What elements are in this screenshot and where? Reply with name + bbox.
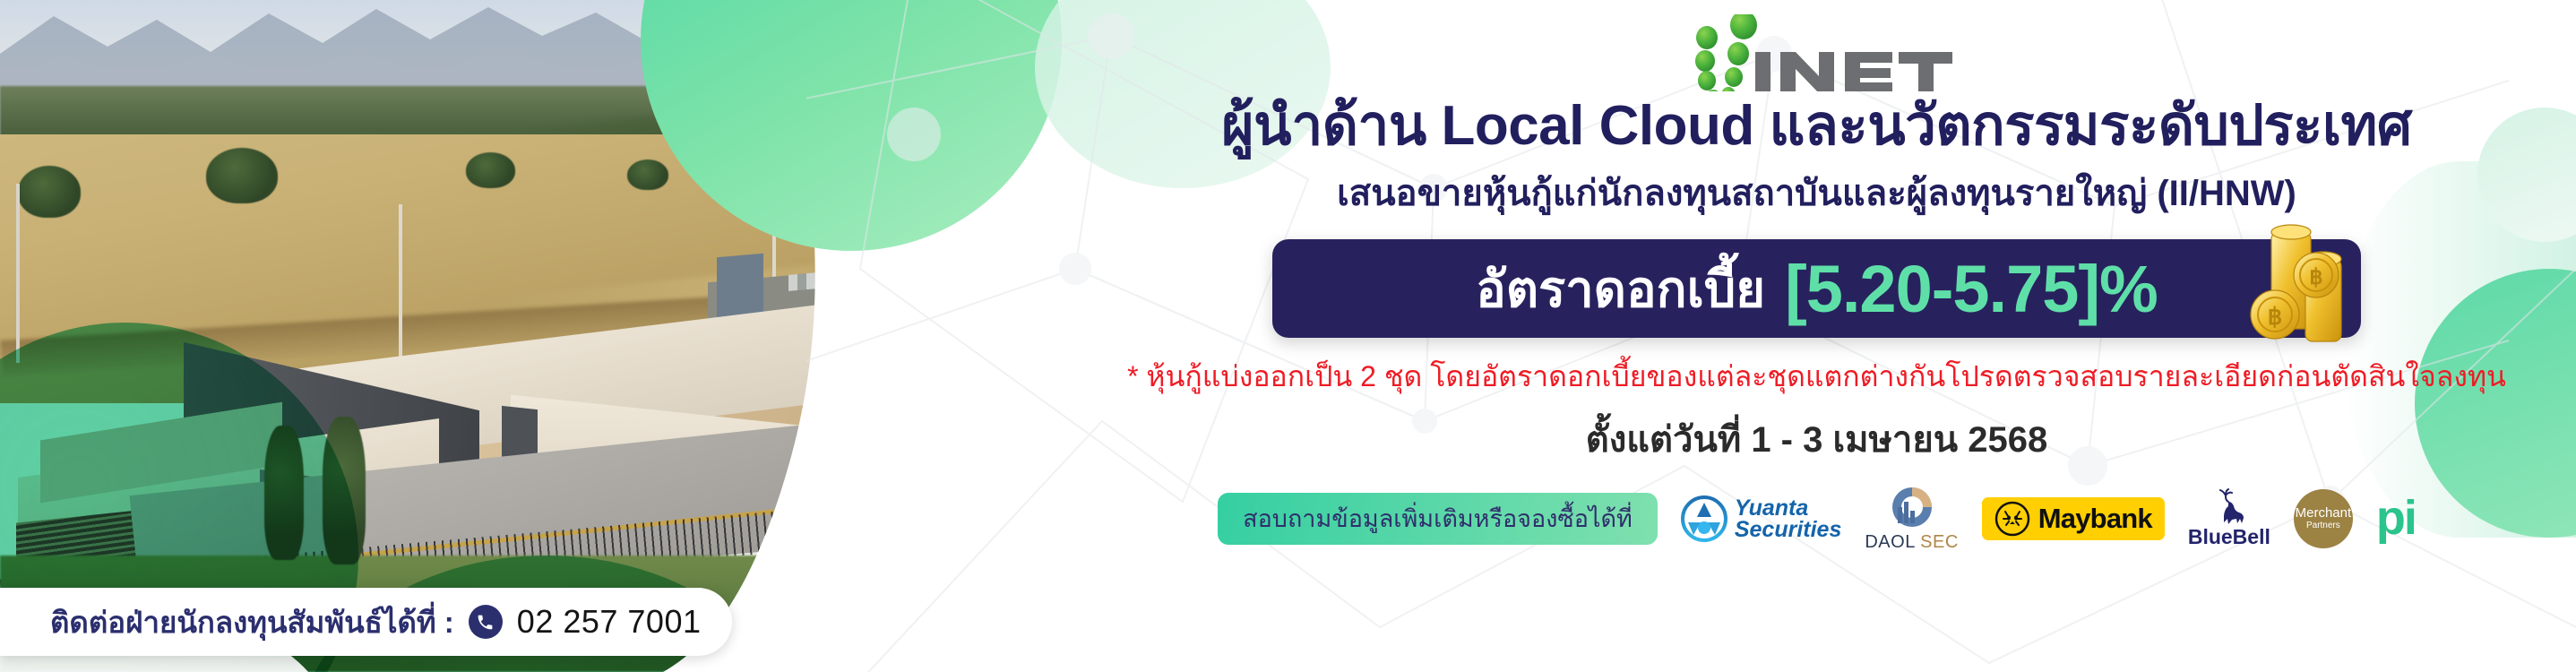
gold-coins-icon: ฿ ฿ — [2219, 216, 2354, 359]
photo-tree — [206, 148, 278, 203]
photo-rooftop-equipment — [788, 255, 1012, 291]
photo-tree — [627, 159, 668, 190]
contact-label: ติดต่อฝ่ายนักลงทุนสัมพันธ์ได้ที่ : — [50, 599, 454, 646]
photo-building-block — [717, 254, 763, 321]
daol-icon — [1886, 484, 1938, 530]
disclaimer-text: * หุ้นกู้แบ่งออกเป็น 2 ชุด โดยอัตราดอกเบ… — [1127, 354, 2506, 400]
inet-logo — [1669, 14, 1965, 91]
contact-phone-number[interactable]: 02 257 7001 — [517, 603, 702, 641]
partner-logo-yuanta-securities[interactable]: Yuanta Securities — [1681, 495, 1842, 542]
daol-sec-text: SEC — [1920, 532, 1959, 552]
inet-logo-mark — [1669, 14, 1965, 91]
merchant-line1: Merchant — [2296, 506, 2352, 520]
interest-rate-bar: อัตราดอกเบี้ย [5.20-5.75]% — [1272, 239, 2361, 338]
daol-text: DAOL — [1865, 532, 1915, 552]
bluebell-label: BlueBell — [2188, 525, 2270, 549]
partner-logo-daol-sec[interactable]: DAOL SEC — [1865, 484, 1958, 553]
offer-period-text: ตั้งแต่วันที่ 1 - 3 เมษายน 2568 — [1586, 410, 2047, 468]
maybank-label: Maybank — [2038, 503, 2152, 535]
photo-tree — [466, 152, 515, 188]
page-title: ผู้นำด้าน Local Cloud และนวัตกรรมระดับปร… — [1221, 95, 2412, 157]
interest-rate-value: [5.20-5.75]% — [1785, 251, 2158, 327]
yuanta-icon — [1681, 495, 1727, 542]
partner-logo-merchant-partners[interactable]: Merchant Partners — [2294, 489, 2353, 548]
banner-content: ผู้นำด้าน Local Cloud และนวัตกรรมระดับปร… — [1057, 0, 2576, 672]
photo-utility-pole — [399, 204, 402, 366]
pi-label: pi — [2376, 499, 2416, 538]
interest-rate-row: อัตราดอกเบี้ย [5.20-5.75]% — [1253, 239, 2382, 338]
maybank-tiger-icon — [1994, 501, 2030, 537]
merchant-line2: Partners — [2306, 520, 2340, 531]
partner-logo-bluebell[interactable]: BlueBell — [2188, 488, 2270, 549]
page-subtitle: เสนอขายหุ้นกู้แก่นักลงทุนสถาบันและผู้ลงท… — [1337, 164, 2296, 221]
svg-text:฿: ฿ — [2268, 304, 2283, 330]
partner-row: สอบถามข้อมูลเพิ่มเติมหรือจองซื้อได้ที่ Y… — [1218, 484, 2416, 553]
photo-utility-pole — [16, 184, 20, 363]
interest-rate-label: อัตราดอกเบี้ย — [1476, 249, 1765, 329]
svg-text:฿: ฿ — [2309, 266, 2322, 289]
investor-relations-contact-box[interactable]: ติดต่อฝ่ายนักลงทุนสัมพันธ์ได้ที่ : 02 25… — [0, 588, 732, 656]
inet-bond-offering-banner: ติดต่อฝ่ายนักลงทุนสัมพันธ์ได้ที่ : 02 25… — [0, 0, 2576, 672]
photo-tree — [18, 166, 81, 218]
yuanta-line2: Securities — [1735, 519, 1842, 540]
yuanta-line1: Yuanta — [1735, 497, 1842, 519]
phone-icon — [469, 605, 503, 639]
inquiry-cta-button[interactable]: สอบถามข้อมูลเพิ่มเติมหรือจองซื้อได้ที่ — [1218, 493, 1658, 545]
bluebell-deer-icon — [2210, 488, 2249, 524]
partner-logo-maybank[interactable]: Maybank — [1982, 497, 2165, 540]
partner-logo-pi-securities[interactable]: pi — [2376, 499, 2416, 538]
